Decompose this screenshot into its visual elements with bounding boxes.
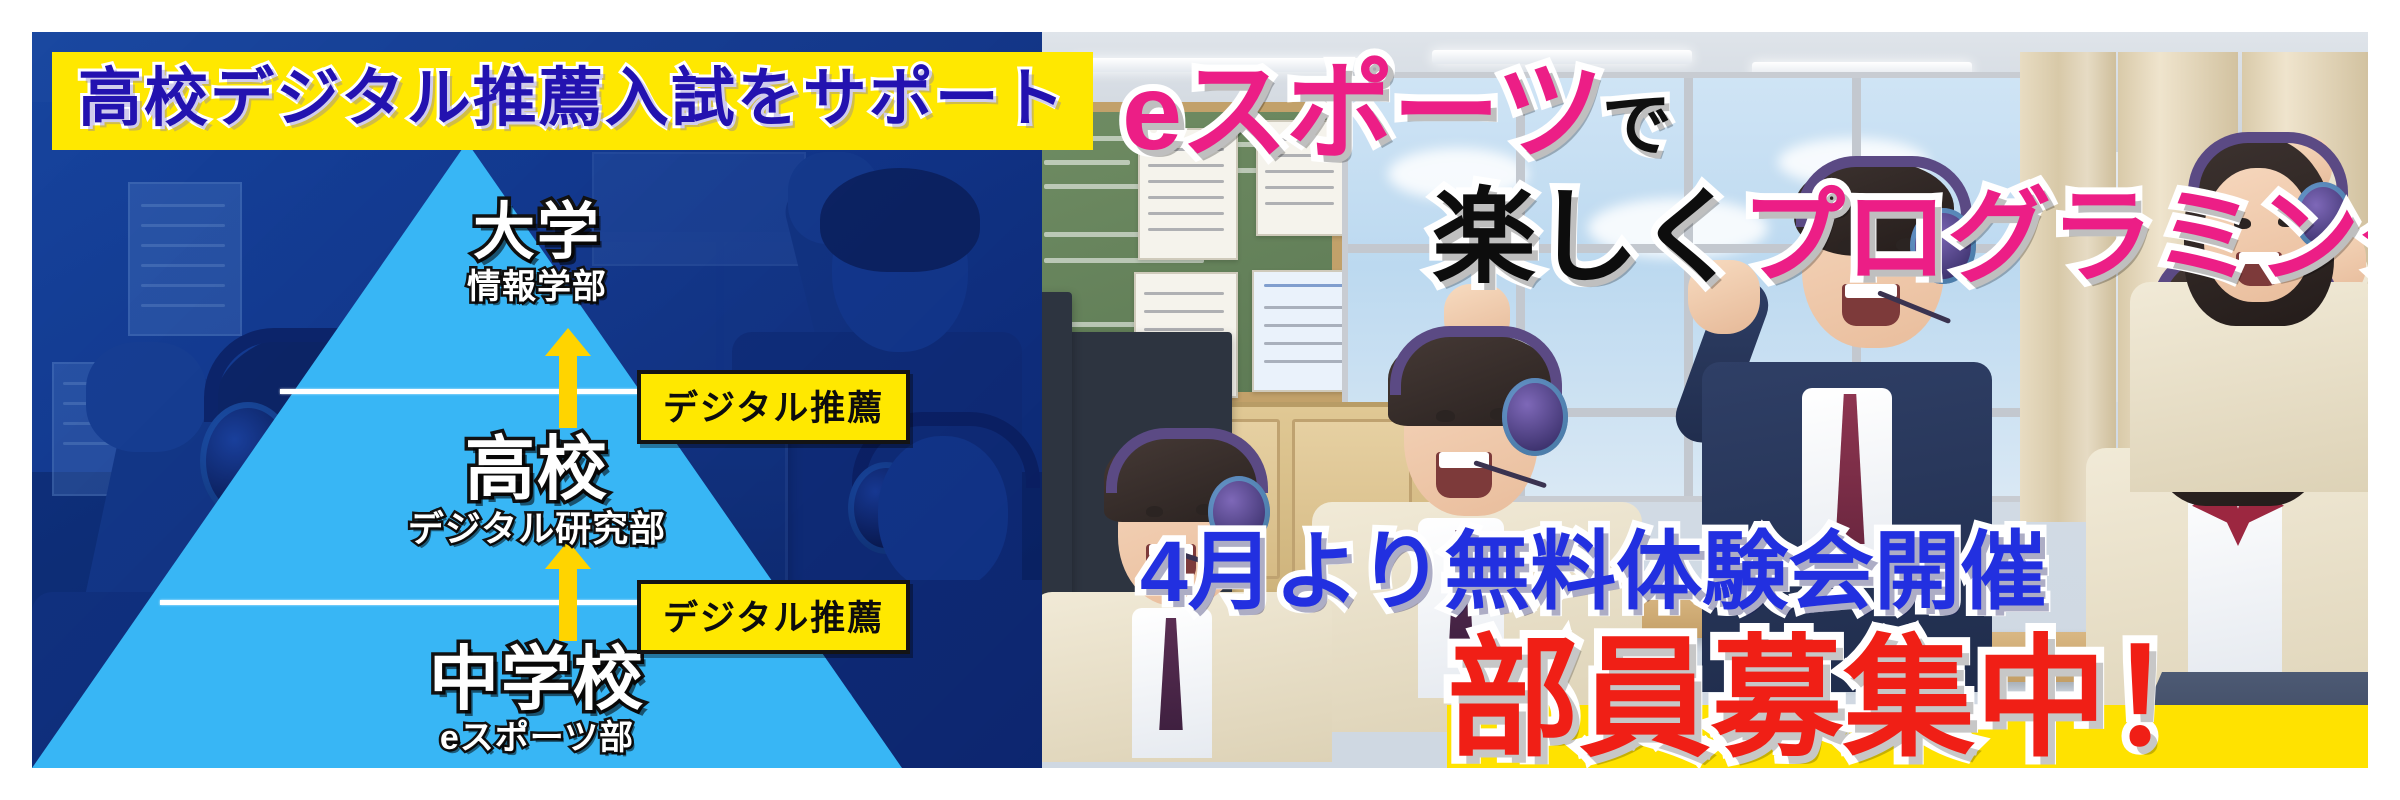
headline-programming-text: プログラミング xyxy=(1741,180,2368,296)
headline-fun-programming: 楽しくプログラミング xyxy=(1432,182,2368,294)
badge-digital-recommendation-upper: デジタル推薦 xyxy=(637,370,910,444)
headline-tanoshiku-text: 楽しく xyxy=(1432,180,1741,296)
headline-esports-text: eスポーツ xyxy=(1122,51,1602,172)
headline-free-trial: 4月より無料体験会開催 xyxy=(1140,524,2046,620)
headline-esports-de: eスポーツで xyxy=(1122,54,1670,183)
promotional-banner: 大学 情報学部 高校 デジタル研究部 中学校 eスポーツ部 デジタル推薦 デジタ… xyxy=(32,32,2368,768)
support-title-text: 高校デジタル推薦入試をサポート xyxy=(78,62,1067,134)
headline-recruiting-members: 部員募集中！ xyxy=(1447,628,2239,768)
badge-digital-recommendation-lower: デジタル推薦 xyxy=(637,580,910,654)
support-title-bar: 高校デジタル推薦入試をサポート xyxy=(52,52,1093,150)
headline-de-text: で xyxy=(1602,86,1670,164)
